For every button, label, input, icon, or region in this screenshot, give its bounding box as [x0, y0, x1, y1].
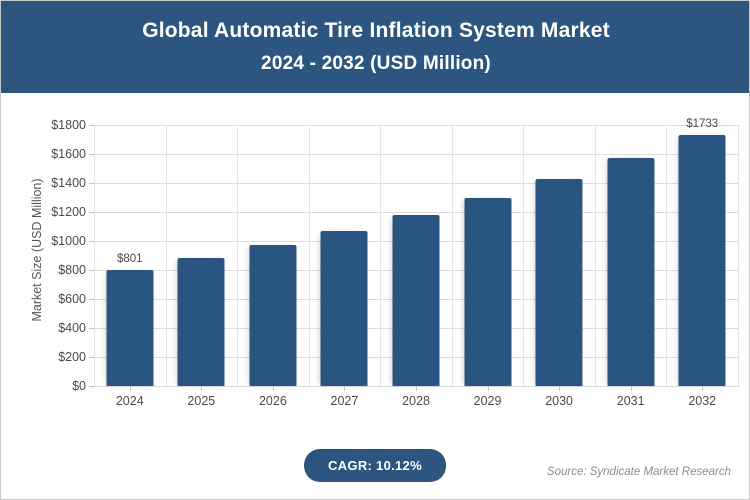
chart-figure: Global Automatic Tire Inflation System M…: [0, 0, 750, 500]
y-tick-label: $1400: [51, 176, 86, 190]
bar[interactable]: [249, 245, 296, 386]
x-tick-mark: [416, 386, 417, 391]
y-tick-label: $200: [58, 350, 86, 364]
bar-slot: [523, 125, 595, 386]
source-note: Source: Syndicate Market Research: [547, 466, 731, 478]
x-tick-label: 2024: [116, 394, 144, 408]
x-tick-label: 2031: [617, 394, 645, 408]
x-tick-label: 2027: [331, 394, 359, 408]
x-tick-label: 2029: [474, 394, 502, 408]
y-tick-label: $1000: [51, 234, 86, 248]
x-tick-mark: [273, 386, 274, 391]
y-tick-label: $800: [58, 263, 86, 277]
bar[interactable]: [464, 198, 511, 386]
y-tick-mark: [89, 386, 94, 387]
x-tick-label: 2030: [545, 394, 573, 408]
bar-value-label: $801: [117, 253, 143, 265]
x-tick-mark: [702, 386, 703, 391]
bar-slot: $801: [94, 125, 166, 386]
bar[interactable]: [321, 231, 368, 386]
chart-title-line2: 2024 - 2032 (USD Million): [261, 51, 491, 77]
bar-slot: [309, 125, 381, 386]
y-tick-label: $1200: [51, 205, 86, 219]
x-tick-mark: [201, 386, 202, 391]
y-tick-label: $400: [58, 321, 86, 335]
bar[interactable]: [106, 270, 153, 386]
bar-slot: [595, 125, 667, 386]
bar[interactable]: [178, 258, 225, 386]
chart-header: Global Automatic Tire Inflation System M…: [1, 1, 750, 93]
x-tick-mark: [559, 386, 560, 391]
x-gridline: [738, 125, 739, 386]
x-tick-mark: [631, 386, 632, 391]
x-tick-mark: [344, 386, 345, 391]
bar[interactable]: [392, 215, 439, 386]
bar-slot: [237, 125, 309, 386]
bar-slot: [452, 125, 524, 386]
bar[interactable]: [679, 135, 726, 386]
bar[interactable]: [536, 179, 583, 386]
bar-slot: [166, 125, 238, 386]
bar[interactable]: [607, 158, 654, 386]
y-tick-label: $1600: [51, 147, 86, 161]
bar-slot: [380, 125, 452, 386]
x-tick-label: 2032: [688, 394, 716, 408]
chart-plot-area: Market Size (USD Million) $0$200$400$600…: [1, 93, 749, 499]
x-tick-mark: [130, 386, 131, 391]
bar-slot: $1733: [666, 125, 738, 386]
chart-title-line1: Global Automatic Tire Inflation System M…: [142, 17, 610, 45]
cagr-badge: CAGR: 10.12%: [304, 449, 446, 482]
y-axis-title: Market Size (USD Million): [30, 120, 44, 380]
y-tick-label: $0: [72, 379, 86, 393]
x-tick-label: 2025: [187, 394, 215, 408]
y-tick-label: $600: [58, 292, 86, 306]
x-tick-mark: [488, 386, 489, 391]
x-tick-label: 2026: [259, 394, 287, 408]
x-tick-label: 2028: [402, 394, 430, 408]
bar-value-label: $1733: [686, 118, 718, 130]
y-tick-label: $1800: [51, 118, 86, 132]
bars-container: $0$200$400$600$800$1000$1200$1400$1600$1…: [94, 125, 738, 386]
